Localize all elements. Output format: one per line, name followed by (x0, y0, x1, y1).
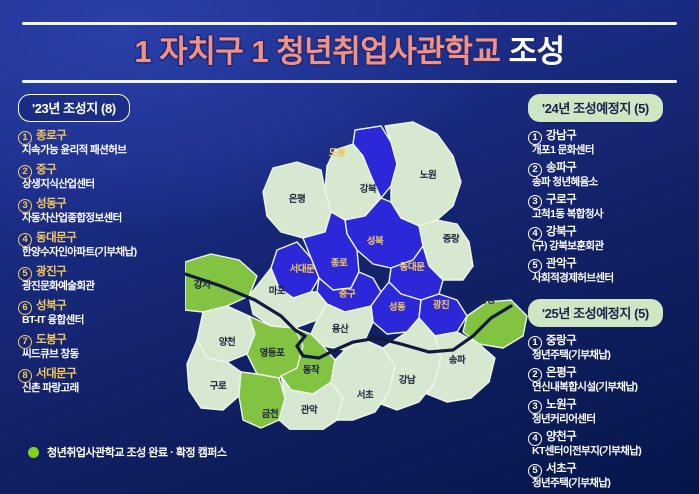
panel-2023-item-text: 성북구BT-IT 융합센터 (36, 300, 198, 327)
panel-2024-items: 1강남구개포1 문화센터2송파구송파 청년혜윰소3구로구고척1동 복합청사4강북… (528, 130, 696, 285)
map-label-pale: 마포 (269, 285, 286, 297)
panel-2025-item-text: 노원구청년커리어센터 (546, 399, 696, 426)
panel-2024-item-text: 송파구송파 청년혜윰소 (546, 162, 696, 189)
panel-2025-item-place: KT센터이전부지(기부채납) (532, 444, 696, 458)
map-label-green: 강동 (479, 294, 496, 306)
panel-2023-item-district: 종로구 (36, 130, 198, 143)
legend-dot-icon (28, 447, 39, 458)
panel-2025-item-district: 양천구 (546, 431, 696, 444)
panel-2024: '24년 조성예정지 (5) 1강남구개포1 문화센터2송파구송파 청년혜윰소3… (528, 94, 696, 290)
map-label-blue: 성북 (367, 235, 384, 247)
map-label-pale: 중랑 (443, 233, 460, 245)
map-label-blue: 서대문 (290, 263, 315, 275)
map-label-blue: 종로 (331, 258, 348, 269)
panel-2023-item-district: 서대문구 (36, 368, 198, 381)
panel-2023-item-district: 도봉구 (36, 334, 198, 347)
panel-2025-item[interactable]: 4양천구KT센터이전부지(기부채납) (528, 431, 696, 458)
panel-2024-item-district: 강북구 (546, 226, 696, 239)
panel-2023-item-place: 씨드큐브 창동 (22, 347, 198, 361)
panel-2023: '23년 조성지 (8) 1종로구지속가능 윤리적 패션허브2중구상생지식산업센… (18, 94, 198, 402)
panel-2024-item[interactable]: 5관악구사회적경제허브센터 (528, 258, 696, 285)
title-rule-top (22, 22, 677, 25)
panel-2023-item-text: 종로구지속가능 윤리적 패션허브 (36, 130, 198, 157)
page-title: 1 자치구 1 청년취업사관학교 조성 (0, 28, 699, 76)
panel-2024-item-text: 강북구(구) 강북보훈회관 (546, 226, 696, 253)
panel-2024-item-place: 개포1 문화센터 (532, 143, 696, 157)
panel-2024-item[interactable]: 3구로구고척1동 복합청사 (528, 194, 696, 221)
panel-2024-item-text: 강남구개포1 문화센터 (546, 130, 696, 157)
title-band: 1 자치구 1 청년취업사관학교 조성 (0, 22, 699, 84)
panel-2025-items: 1중랑구청년주택(기부채납)2은평구연신내복합시설(기부채납)3노원구청년커리어… (528, 335, 696, 490)
panel-2025-badge: '25년 조성예정지 (5) (528, 299, 663, 327)
panel-2025-item-text: 은평구연신내복합시설(기부채납) (546, 367, 696, 394)
page-title-main: 1 자치구 1 청년취업사관학교 (134, 34, 500, 69)
panel-2025-item-text: 서초구청년주택(기부채납) (546, 463, 696, 490)
panel-2023-item-text: 성동구자동차산업종합정보센터 (36, 198, 198, 225)
panel-2025-item-place: 청년커리어센터 (532, 412, 696, 426)
map-label-pale: 은평 (289, 193, 305, 205)
panel-2023-item[interactable]: 5광진구광진문화예술회관 (18, 266, 198, 293)
panel-2025-item[interactable]: 3노원구청년커리어센터 (528, 399, 696, 426)
infographic-root: 1 자치구 1 청년취업사관학교 조성 '23년 조성지 (8) 1종로구지속가… (0, 0, 699, 494)
panel-2024-item-text: 구로구고척1동 복합청사 (546, 194, 696, 221)
panel-2024-item-place: 고척1동 복합청사 (532, 207, 696, 221)
panel-2023-item[interactable]: 6성북구BT-IT 융합센터 (18, 300, 198, 327)
map-label-green: 금천 (262, 409, 278, 420)
map-label-pale: 강남 (399, 374, 416, 386)
panel-2023-item[interactable]: 4동대문구한양수자인아파트(기부채납) (18, 232, 198, 259)
panel-2023-item-text: 중구상생지식산업센터 (36, 164, 198, 191)
map-label-blue: 도봉 (329, 148, 346, 159)
panel-2025-item[interactable]: 1중랑구청년주택(기부채납) (528, 335, 696, 362)
panel-2024-item[interactable]: 4강북구(구) 강북보훈회관 (528, 226, 696, 253)
panel-2024-badge: '24년 조성예정지 (5) (528, 94, 663, 122)
panel-2023-item-place: 자동차산업종합정보센터 (22, 211, 198, 225)
panel-2025-item-district: 중랑구 (546, 335, 696, 348)
panel-2023-item-place: 상생지식산업센터 (22, 177, 198, 191)
map-label-blue: 중구 (339, 289, 356, 300)
panel-2023-item-text: 광진구광진문화예술회관 (36, 266, 198, 293)
map-label-pale: 구로 (210, 381, 227, 392)
map-label-pale: 양천 (219, 336, 235, 348)
panel-2025-item-text: 중랑구청년주택(기부채납) (546, 335, 696, 362)
panel-2023-item[interactable]: 8서대문구신촌 파랑고래 (18, 368, 198, 395)
map-label-pale: 관악 (301, 404, 318, 416)
panel-2023-item-place: 광진문화예술회관 (22, 279, 198, 293)
panel-2024-item[interactable]: 1강남구개포1 문화센터 (528, 130, 696, 157)
panel-2023-item-place: 한양수자인아파트(기부채납) (22, 245, 198, 259)
map-label-pale: 송파 (449, 354, 466, 366)
panel-2025-item-text: 양천구KT센터이전부지(기부채납) (546, 431, 696, 458)
panel-2023-item-district: 성동구 (36, 198, 198, 211)
panel-2023-item-place: 신촌 파랑고래 (22, 381, 198, 395)
panel-2024-item-place: 사회적경제허브센터 (532, 271, 696, 285)
panel-2023-item-district: 광진구 (36, 266, 198, 279)
panel-2023-item-district: 동대문구 (36, 232, 198, 245)
panel-2024-item[interactable]: 2송파구송파 청년혜윰소 (528, 162, 696, 189)
map-label-pale: 강북 (360, 183, 377, 195)
map-shapes (185, 122, 527, 430)
panel-2024-item-text: 관악구사회적경제허브센터 (546, 258, 696, 285)
seoul-district-map: 도봉노원강북은평성북중랑종로서대문동대문강서마포중구성동광진강동용산양천영등포송… (185, 120, 530, 430)
map-label-blue: 성동 (389, 301, 406, 313)
panel-2024-item-district: 송파구 (546, 162, 696, 175)
panel-2024-item-district: 관악구 (546, 258, 696, 271)
map-label-blue: 동대문 (400, 261, 425, 273)
panel-2023-item-place: 지속가능 윤리적 패션허브 (22, 143, 198, 157)
map-label-pale: 노원 (420, 169, 436, 181)
panel-2023-items: 1종로구지속가능 윤리적 패션허브2중구상생지식산업센터3성동구자동차산업종합정… (18, 130, 198, 395)
map-label-green: 영등포 (260, 347, 285, 359)
panel-2025-item-place: 청년주택(기부채납) (532, 348, 696, 362)
panel-2025-item-district: 서초구 (546, 463, 696, 476)
map-label-pale: 용산 (332, 323, 349, 335)
panel-2023-item-district: 중구 (36, 164, 198, 177)
panel-2025-item[interactable]: 2은평구연신내복합시설(기부채납) (528, 367, 696, 394)
panel-2023-item[interactable]: 7도봉구씨드큐브 창동 (18, 334, 198, 361)
district-shape-yangcheon (197, 306, 255, 362)
panel-2023-item-place: BT-IT 융합센터 (22, 313, 198, 327)
map-svg: 도봉노원강북은평성북중랑종로서대문동대문강서마포중구성동광진강동용산양천영등포송… (185, 120, 530, 430)
panel-2025-item-district: 노원구 (546, 399, 696, 412)
panel-2025-item-place: 연신내복합시설(기부채납) (532, 380, 696, 394)
panel-2023-item[interactable]: 1종로구지속가능 윤리적 패션허브 (18, 130, 198, 157)
map-label-green: 강서 (194, 279, 210, 291)
panel-2023-item-text: 도봉구씨드큐브 창동 (36, 334, 198, 361)
panel-2023-badge: '23년 조성지 (8) (18, 94, 130, 122)
panel-2023-item[interactable]: 3성동구자동차산업종합정보센터 (18, 198, 198, 225)
panel-2025-item-place: 청년주택(기부채납) (532, 476, 696, 490)
panel-2025-item[interactable]: 5서초구청년주택(기부채납) (528, 463, 696, 490)
legend-label: 청년취업사관학교 조성 완료 · 확정 캠퍼스 (47, 444, 226, 460)
panel-2025-item-district: 은평구 (546, 367, 696, 380)
map-label-green: 동작 (303, 364, 320, 376)
panel-2024-item-district: 강남구 (546, 130, 696, 143)
panel-2023-item-text: 서대문구신촌 파랑고래 (36, 368, 198, 395)
panel-2024-item-place: 송파 청년혜윰소 (532, 175, 696, 189)
legend: 청년취업사관학교 조성 완료 · 확정 캠퍼스 (28, 444, 226, 460)
panel-2023-item-text: 동대문구한양수자인아파트(기부채납) (36, 232, 198, 259)
map-label-blue: 광진 (433, 299, 449, 311)
panel-2023-item[interactable]: 2중구상생지식산업센터 (18, 164, 198, 191)
page-title-highlight: 조성 (509, 34, 565, 69)
panel-2023-item-district: 성북구 (36, 300, 198, 313)
title-rule-bottom (22, 80, 677, 83)
panel-2024-item-district: 구로구 (546, 194, 696, 207)
panel-2025: '25년 조성예정지 (5) 1중랑구청년주택(기부채납)2은평구연신내복합시설… (528, 299, 696, 494)
panel-2024-item-place: (구) 강북보훈회관 (532, 239, 696, 253)
map-label-pale: 서초 (357, 389, 374, 401)
